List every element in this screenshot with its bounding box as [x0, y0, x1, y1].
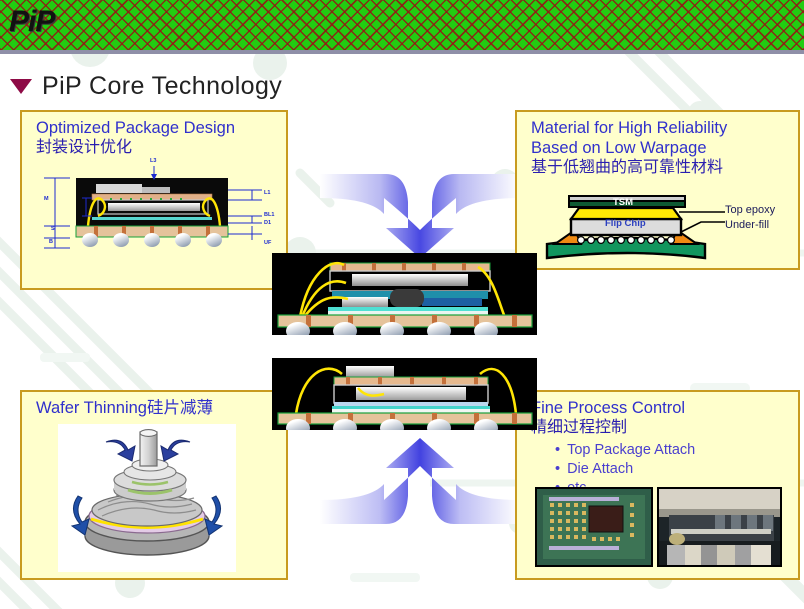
optimized-title-en: Optimized Package Design [36, 118, 235, 138]
panel-fine-process-control: Fine Process Control 精细过程控制 Top Package … [515, 390, 800, 580]
dim-label-D1: D1 [264, 220, 271, 226]
panel-wafer-thinning: Wafer Thinning硅片减薄 [20, 390, 288, 580]
pip-stacked-package-cross-section-b [272, 358, 537, 430]
dim-label-L3: L3 [150, 158, 156, 164]
dim-label-UF: UF [264, 240, 271, 246]
fine-title-cn: 精细过程控制 [531, 418, 695, 438]
wafer-title: Wafer Thinning硅片减薄 [36, 398, 213, 418]
fine-title-en: Fine Process Control [531, 398, 695, 418]
wafer-grinder-illustration [58, 424, 236, 572]
material-heading-block: Material for High Reliability Based on L… [531, 118, 727, 178]
panel-optimized-package-design: Optimized Package Design 封装设计优化 [20, 110, 288, 290]
material-title-en-line1: Material for High Reliability [531, 118, 727, 138]
pip-logo-text: PiP [9, 6, 54, 38]
dim-label-BL1: BL1 [264, 212, 274, 218]
list-item: Die Attach [555, 460, 695, 479]
list-item: Top Package Attach [555, 441, 695, 460]
wafer-heading-block: Wafer Thinning硅片减薄 [36, 398, 213, 418]
dim-label-M: M [44, 196, 49, 202]
fine-heading-block: Fine Process Control 精细过程控制 Top Package … [531, 398, 695, 498]
package-cross-section-dimensions-diagram: L3 M S B L1 BL1 D1 UF [30, 160, 278, 275]
optimized-title-cn: 封装设计优化 [36, 138, 235, 158]
flip-chip-cross-section-diagram: TSM Flip Chip Top epoxy Under-fill [529, 186, 787, 264]
header-band [0, 0, 804, 50]
header-divider [0, 50, 804, 54]
slide-title-row: PiP Core Technology [10, 72, 282, 101]
merging-arrow-down [320, 168, 520, 258]
dim-label-L1: L1 [264, 190, 270, 196]
merging-arrow-up [320, 435, 520, 530]
callout-top-epoxy: Top epoxy [725, 204, 775, 216]
triangle-down-icon [10, 79, 32, 94]
panel-material-high-reliability: Material for High Reliability Based on L… [515, 110, 800, 270]
material-title-en-line2: Based on Low Warpage [531, 138, 727, 158]
page-title: PiP Core Technology [42, 72, 282, 101]
dim-label-S: S [51, 226, 55, 232]
material-title-cn: 基于低翘曲的高可靠性材料 [531, 158, 727, 178]
dim-label-B: B [49, 239, 53, 245]
callout-under-fill: Under-fill [725, 219, 769, 231]
pip-stacked-package-cross-section-a [272, 253, 537, 335]
flipchip-label-mid: Flip Chip [605, 218, 646, 229]
flipchip-label-top: TSM [613, 197, 633, 208]
substrate-with-die-photo [535, 487, 653, 567]
optimized-heading-block: Optimized Package Design 封装设计优化 [36, 118, 235, 158]
equipment-photo [657, 487, 782, 567]
